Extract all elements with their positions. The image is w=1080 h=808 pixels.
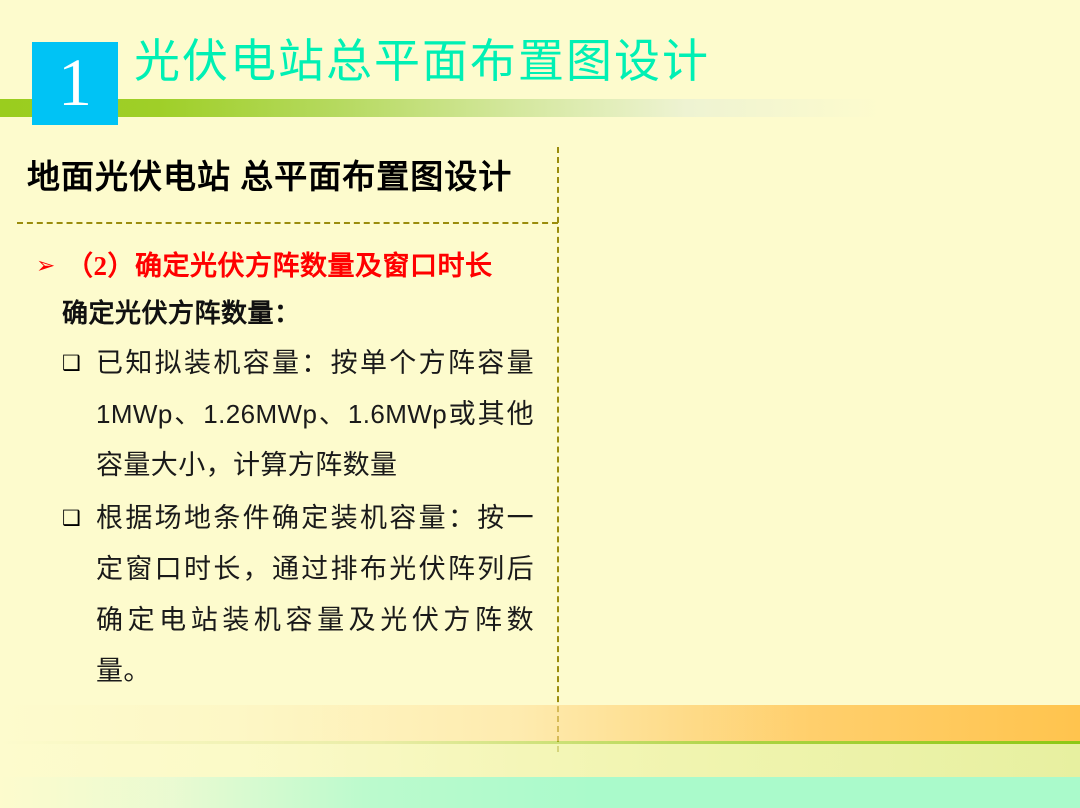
list-item-label: 确定光伏方阵数量：: [62, 292, 301, 336]
decoration-band-mint: [0, 777, 1080, 808]
list-item: 确定光伏方阵数量：: [0, 292, 557, 336]
square-bullet-icon: ❑: [62, 493, 96, 544]
section-subtitle: 地面光伏电站 总平面布置图设计: [27, 150, 547, 198]
list-item-label: （2）确定光伏方阵数量及窗口时长: [66, 244, 493, 288]
slide-content: 地面光伏电站 总平面布置图设计 ➢ （2）确定光伏方阵数量及窗口时长 确定光伏方…: [0, 140, 1080, 750]
vertical-dashed-divider: [557, 147, 559, 752]
list-item: ❑ 根据场地条件确定装机容量：按一定窗口时长，通过排布光伏阵列后确定电站装机容量…: [0, 493, 557, 697]
list-item: ❑ 已知拟装机容量：按单个方阵容量1MWp、1.26MWp、1.6MWp或其他容…: [0, 338, 557, 491]
header-accent-rule: [0, 99, 880, 117]
slide-header: 1 光伏电站总平面布置图设计: [0, 0, 1080, 140]
horizontal-dashed-divider: [17, 222, 558, 224]
arrow-bullet-icon: ➢: [36, 244, 66, 288]
list-item-label: 根据场地条件确定装机容量：按一定窗口时长，通过排布光伏阵列后确定电站装机容量及光…: [96, 493, 534, 697]
slide-root: 1 光伏电站总平面布置图设计 地面光伏电站 总平面布置图设计 ➢ （2）确定光伏…: [0, 0, 1080, 808]
section-number-badge: 1: [32, 42, 118, 125]
list-item: ➢ （2）确定光伏方阵数量及窗口时长: [0, 244, 557, 288]
left-column: 地面光伏电站 总平面布置图设计 ➢ （2）确定光伏方阵数量及窗口时长 确定光伏方…: [0, 140, 557, 750]
page-title: 光伏电站总平面布置图设计: [134, 36, 710, 89]
section-number-text: 1: [58, 48, 92, 116]
square-bullet-icon: ❑: [62, 338, 96, 389]
decoration-band-pale-yellow: [0, 744, 1080, 777]
list-item-label: 已知拟装机容量：按单个方阵容量1MWp、1.26MWp、1.6MWp或其他容量大…: [96, 338, 534, 491]
decoration-band-orange: [0, 705, 1080, 741]
bullet-list: ➢ （2）确定光伏方阵数量及窗口时长 确定光伏方阵数量： ❑ 已知拟装机容量：按…: [0, 244, 557, 699]
